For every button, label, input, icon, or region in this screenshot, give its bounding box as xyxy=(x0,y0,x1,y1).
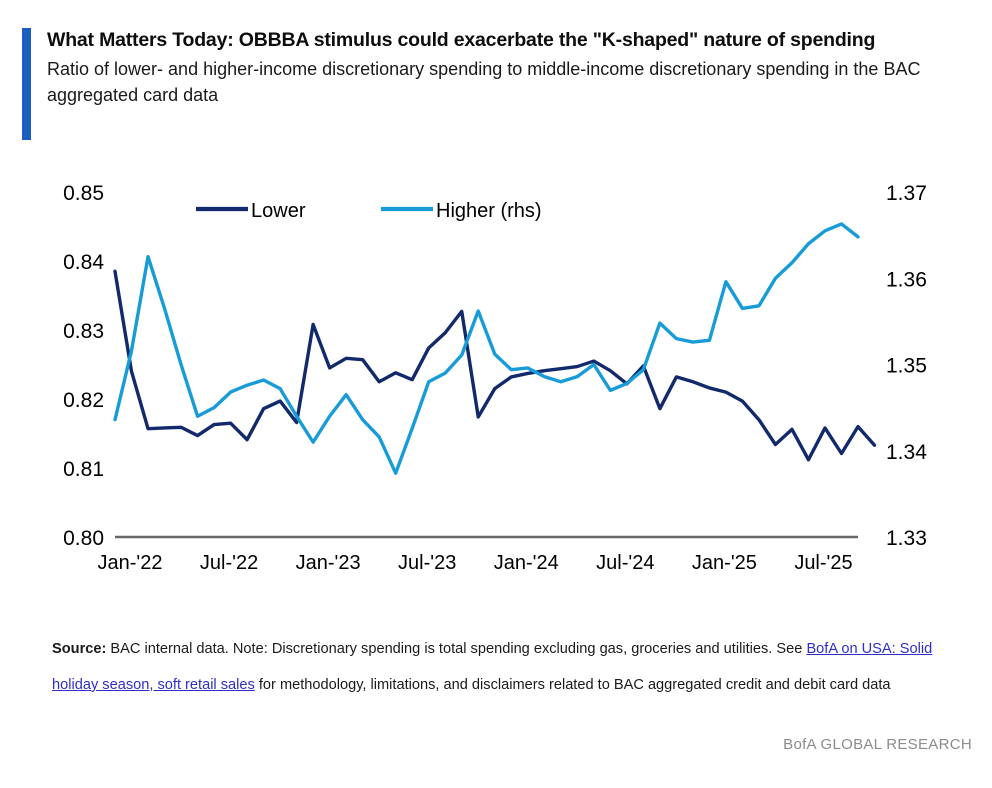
x-axis-labels: Jan-'22Jul-'22Jan-'23Jul-'23Jan-'24Jul-'… xyxy=(98,552,853,574)
y-tick-left-0.83: 0.83 xyxy=(63,320,104,343)
y-tick-right-1.37: 1.37 xyxy=(886,182,927,205)
y-tick-right-1.34: 1.34 xyxy=(886,441,927,464)
x-tick-Jan-'23: Jan-'23 xyxy=(296,552,361,574)
series-line-higher xyxy=(115,224,858,473)
source-text-part-1: BAC internal data. Note: Discretionary s… xyxy=(106,641,806,657)
y-tick-right-1.35: 1.35 xyxy=(886,355,927,378)
x-tick-Jan-'24: Jan-'24 xyxy=(494,552,559,574)
page-title: What Matters Today: OBBBA stimulus could… xyxy=(47,28,972,53)
source-text-part-2: for methodology, limitations, and discla… xyxy=(255,677,891,693)
page-subtitle: Ratio of lower- and higher-income discre… xyxy=(47,57,972,109)
chart-legend: Lower Higher (rhs) xyxy=(196,200,542,222)
y-tick-right-1.36: 1.36 xyxy=(886,268,927,291)
y-axis-left-labels: 0.800.810.820.830.840.85 xyxy=(63,182,104,550)
line-chart-svg: 0.800.810.820.830.840.85 1.331.341.351.3… xyxy=(0,160,992,590)
y-tick-right-1.33: 1.33 xyxy=(886,527,927,550)
y-tick-left-0.84: 0.84 xyxy=(63,251,104,274)
y-tick-left-0.82: 0.82 xyxy=(63,389,104,412)
header-text-block: What Matters Today: OBBBA stimulus could… xyxy=(47,28,972,140)
y-tick-left-0.81: 0.81 xyxy=(63,458,104,481)
chart-plot-area: 0.800.810.820.830.840.85 1.331.341.351.3… xyxy=(0,160,992,590)
x-tick-Jul-'24: Jul-'24 xyxy=(596,552,654,574)
source-link-part-2[interactable]: holiday season, soft retail sales xyxy=(52,677,255,693)
brand-footer: BofA GLOBAL RESEARCH xyxy=(783,736,972,753)
x-tick-Jul-'25: Jul-'25 xyxy=(794,552,852,574)
series-line-lower xyxy=(115,271,875,459)
x-tick-Jul-'23: Jul-'23 xyxy=(398,552,456,574)
chart-page: What Matters Today: OBBBA stimulus could… xyxy=(0,0,992,788)
y-tick-left-0.80: 0.80 xyxy=(63,527,104,550)
source-note: Source: BAC internal data. Note: Discret… xyxy=(52,632,967,704)
x-tick-Jan-'22: Jan-'22 xyxy=(98,552,163,574)
source-label: Source: xyxy=(52,641,106,657)
chart-header: What Matters Today: OBBBA stimulus could… xyxy=(22,28,972,140)
x-tick-Jul-'22: Jul-'22 xyxy=(200,552,258,574)
y-tick-left-0.85: 0.85 xyxy=(63,182,104,205)
accent-bar xyxy=(22,28,31,140)
legend-label-lower: Lower xyxy=(251,200,306,222)
y-axis-right-labels: 1.331.341.351.361.37 xyxy=(886,182,927,550)
source-link-part-1[interactable]: BofA on USA: Solid xyxy=(806,641,932,657)
legend-label-higher: Higher (rhs) xyxy=(436,200,542,222)
x-tick-Jan-'25: Jan-'25 xyxy=(692,552,757,574)
